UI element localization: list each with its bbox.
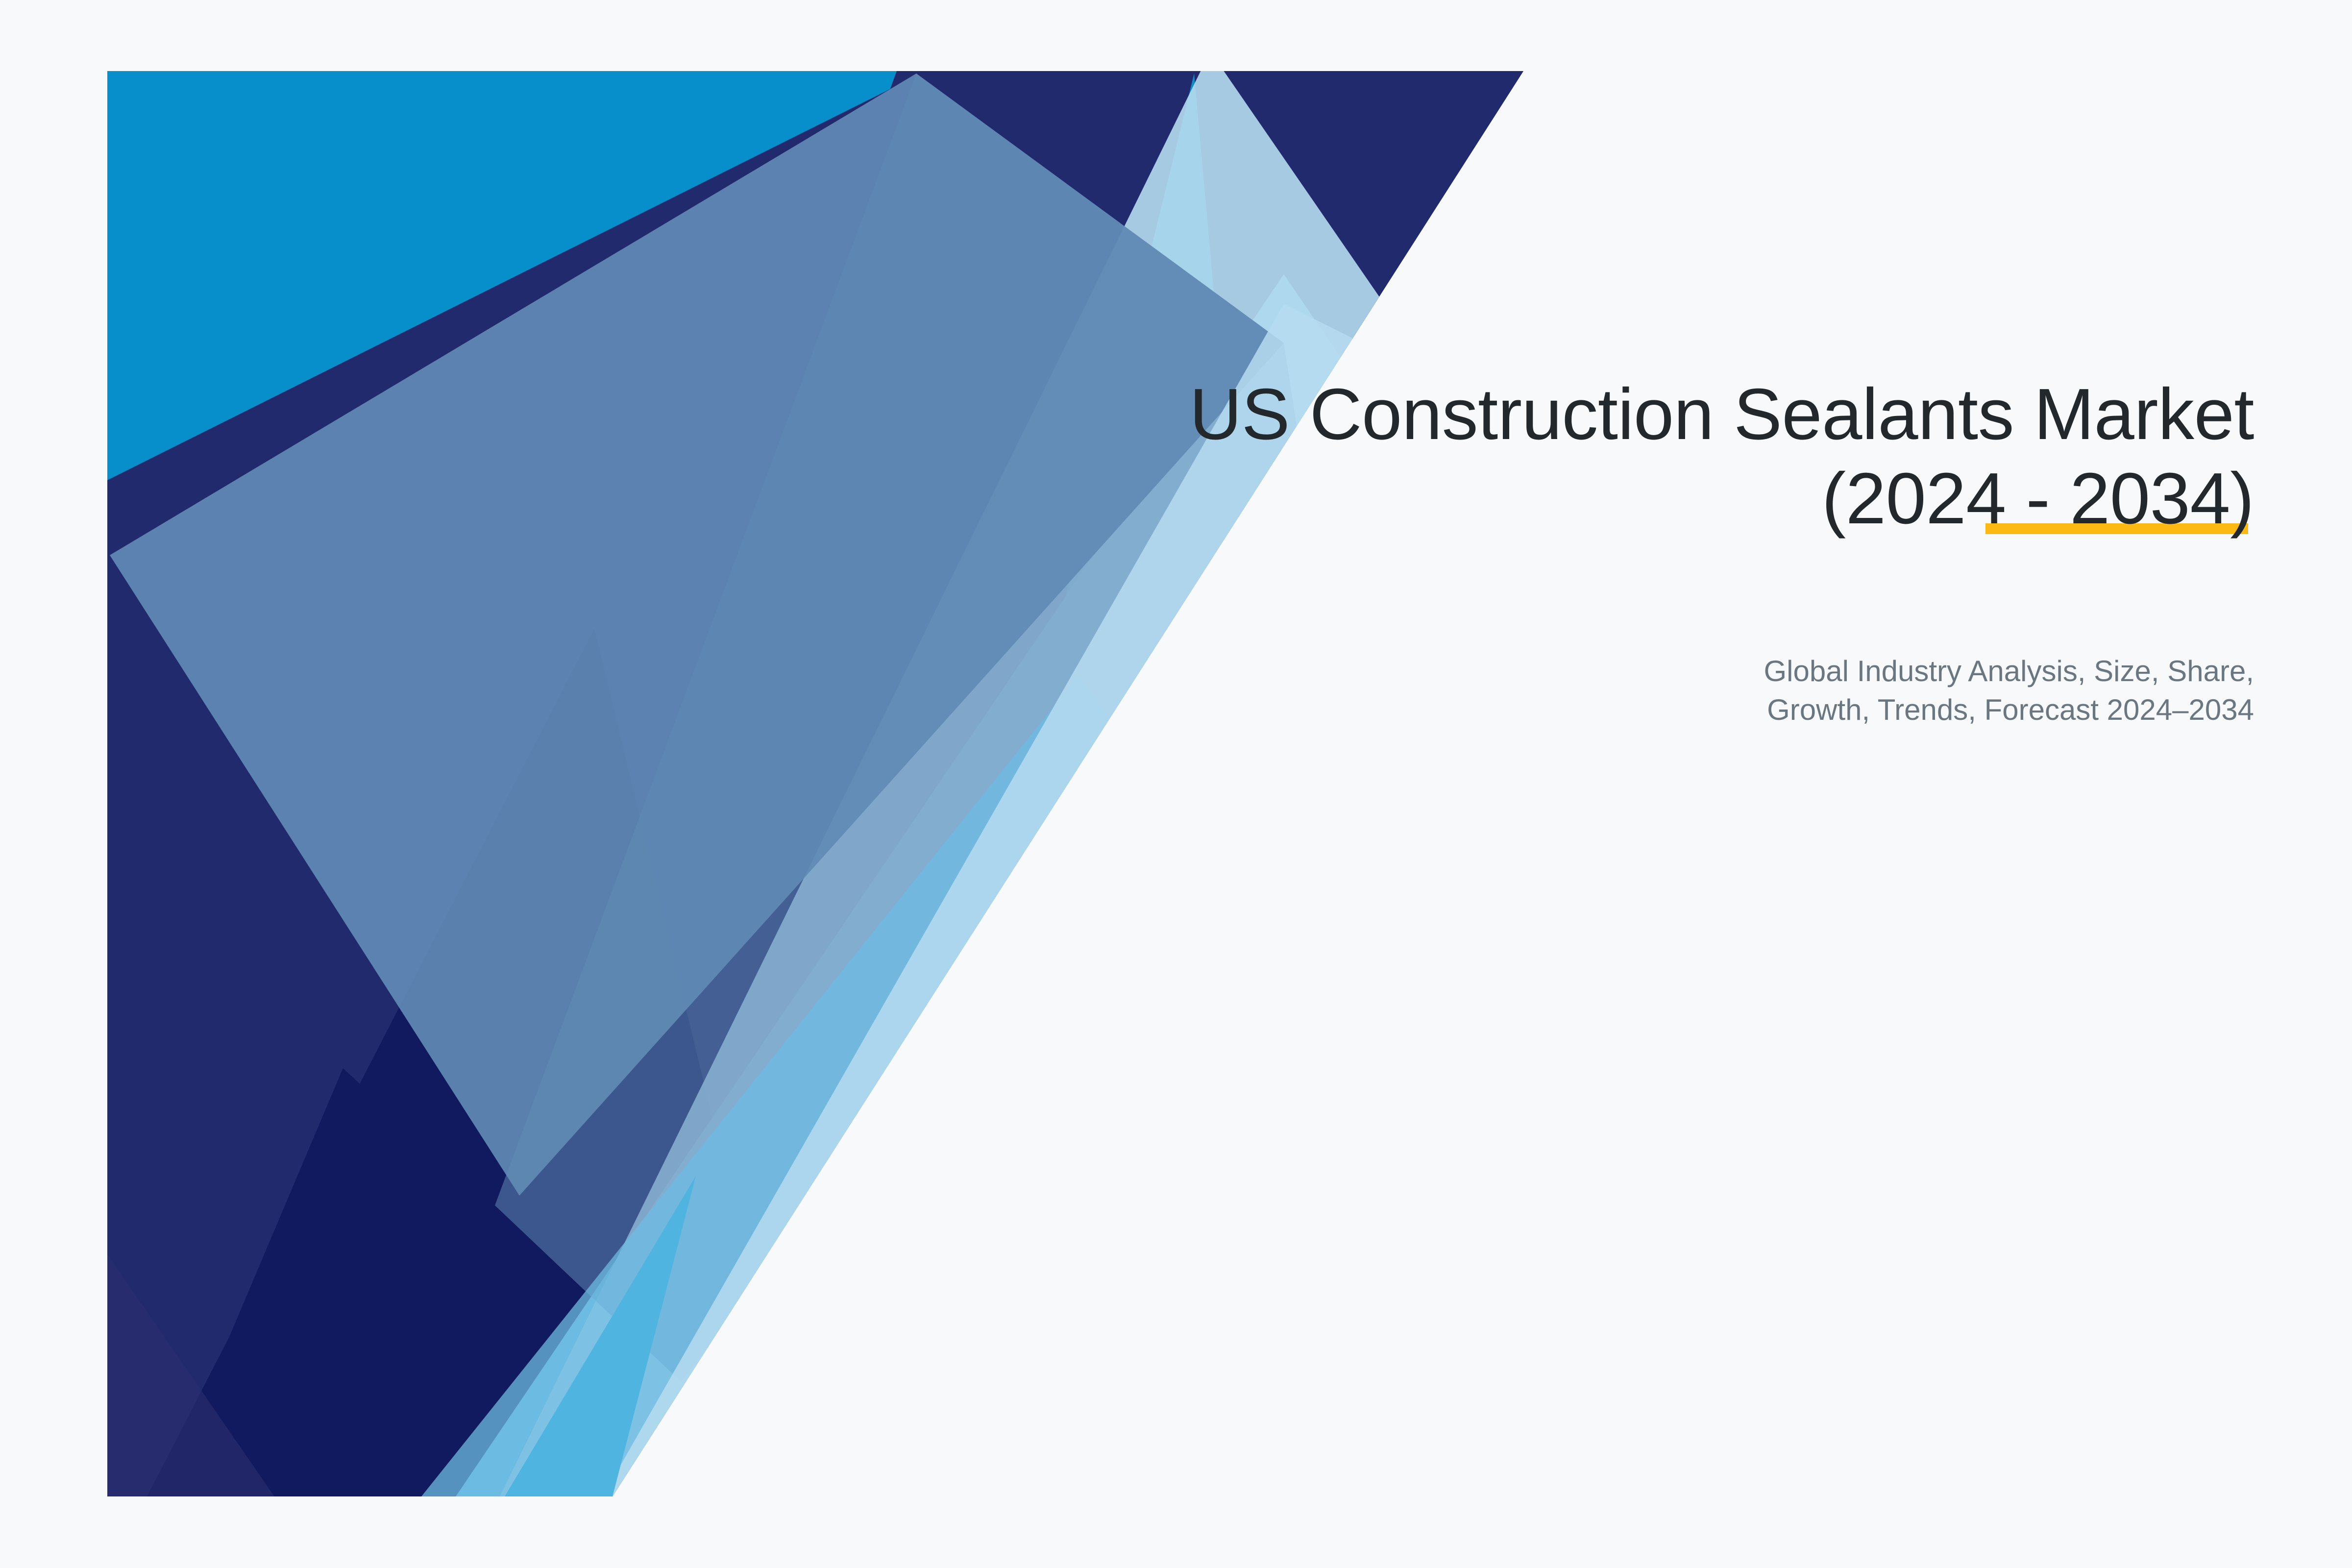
abstract-geometric-artwork bbox=[0, 0, 2352, 1568]
cover-page: US Construction Sealants Market (2024 - … bbox=[0, 0, 2352, 1568]
page-title: US Construction Sealants Market (2024 - … bbox=[833, 372, 2254, 540]
title-block: US Construction Sealants Market (2024 - … bbox=[833, 372, 2254, 540]
page-subtitle: Global Industry Analysis, Size, Share, G… bbox=[1274, 652, 2254, 729]
